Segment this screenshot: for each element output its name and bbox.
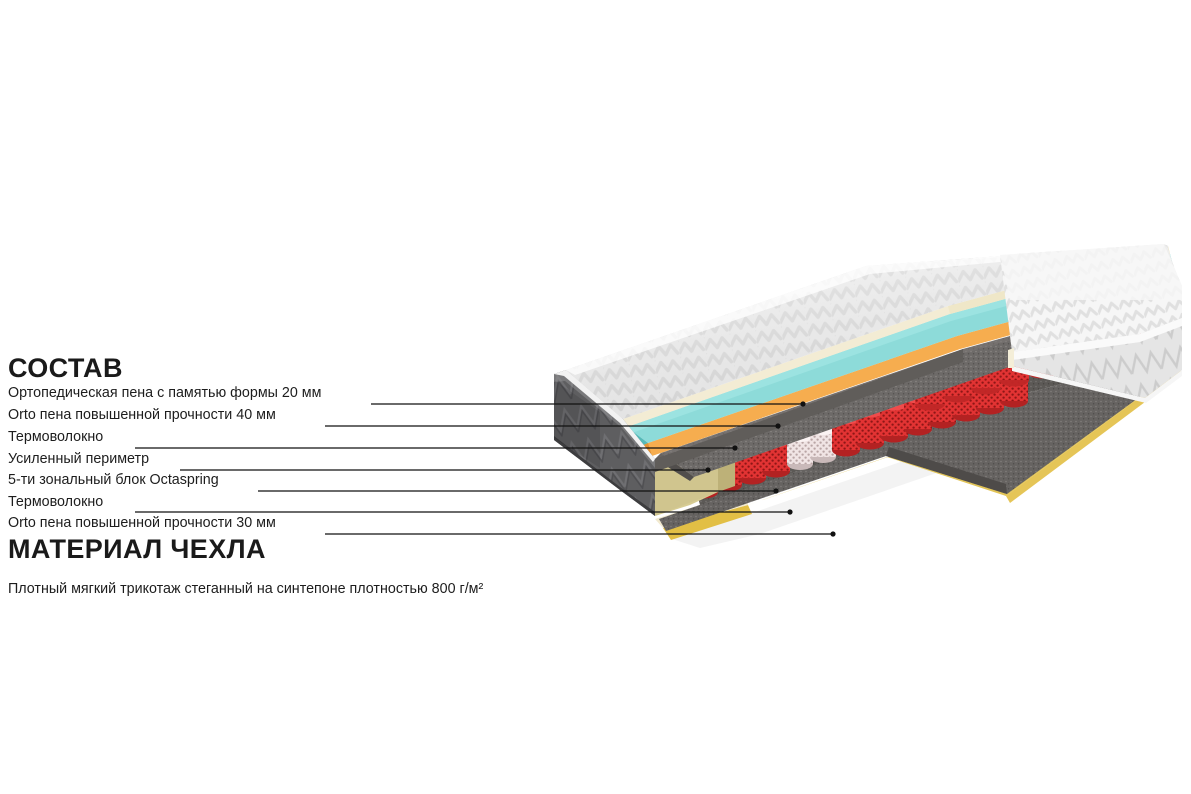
composition-layer-label: Ортопедическая пена с памятью формы 20 м… <box>8 386 321 401</box>
composition-layer-label: Orto пена повышенной прочности 30 мм <box>8 516 276 531</box>
composition-layer-label: Усиленный периметр <box>8 452 149 467</box>
leader-endpoint-dot <box>787 509 792 514</box>
leader-endpoint-dot <box>800 401 805 406</box>
leader-endpoint-dot <box>705 467 710 472</box>
page-root: СОСТАВ Ортопедическая пена с памятью фор… <box>0 0 1191 794</box>
composition-layer-label: Термоволокно <box>8 495 103 510</box>
leader-endpoint-dot <box>732 445 737 450</box>
composition-layer-label: Orto пена повышенной прочности 40 мм <box>8 408 276 423</box>
cover-material-description: Плотный мягкий трикотаж стеганный на син… <box>8 581 483 597</box>
composition-layer-label: Термоволокно <box>8 430 103 445</box>
page-title-composition: СОСТАВ <box>8 353 123 384</box>
page-title-cover-material: МАТЕРИАЛ ЧЕХЛА <box>8 534 266 565</box>
composition-layer-label: 5-ти зональный блок Octaspring <box>8 473 219 488</box>
cut-edge-highlight <box>1008 348 1014 368</box>
leader-endpoint-dot <box>830 531 835 536</box>
leader-endpoint-dot <box>773 488 778 493</box>
leader-endpoint-dot <box>775 423 780 428</box>
